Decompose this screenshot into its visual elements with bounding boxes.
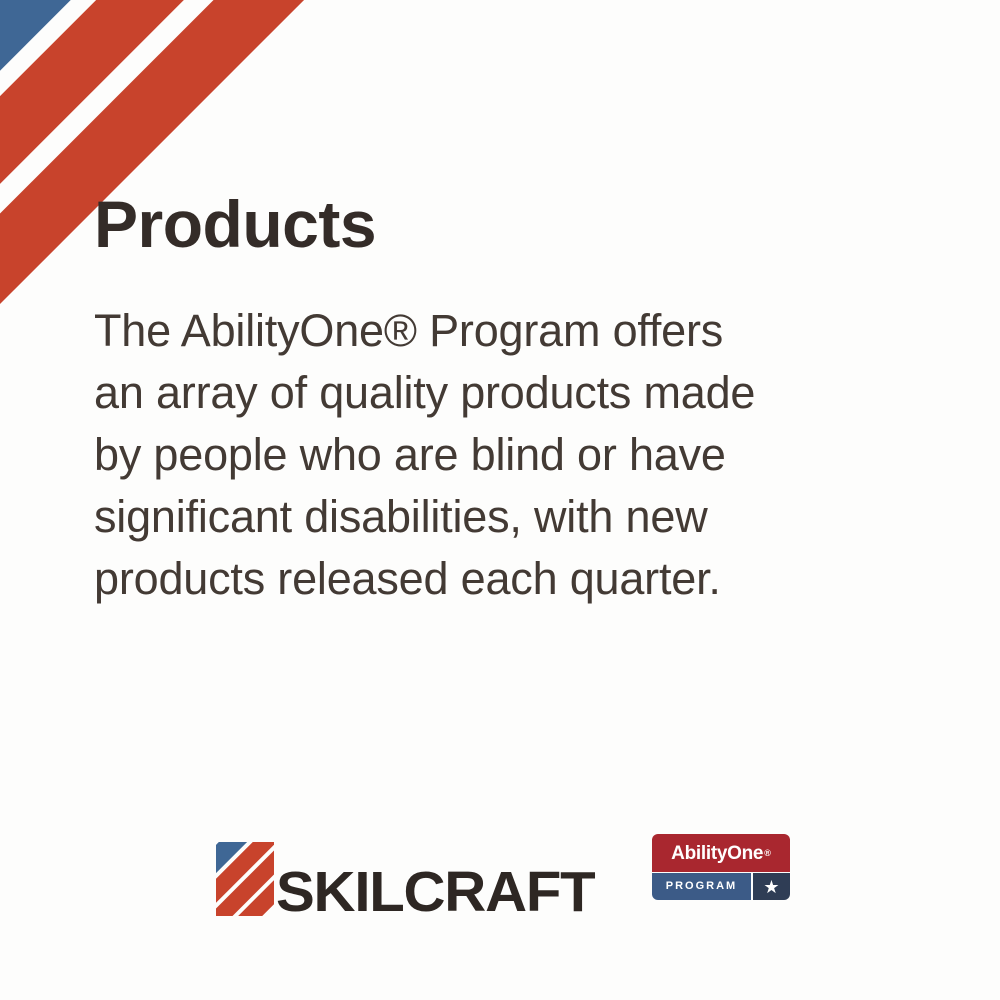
body-copy: The AbilityOne® Program offers an array … bbox=[94, 300, 864, 610]
logo-row: SKILCRAFT AbilityOne ® PROGRAM ★ bbox=[0, 818, 1000, 918]
registered-trademark-icon: ® bbox=[764, 848, 771, 858]
body-line-1: The AbilityOne® Program offers bbox=[94, 300, 864, 362]
flag-stripes-corner bbox=[0, 0, 320, 320]
abilityone-star-block: ★ bbox=[753, 873, 790, 900]
abilityone-logo: AbilityOne ® PROGRAM ★ bbox=[652, 834, 790, 900]
body-line-3: by people who are blind or have bbox=[94, 424, 864, 486]
star-icon: ★ bbox=[763, 878, 779, 896]
products-info-card: Products The AbilityOne® Program offers … bbox=[0, 0, 1000, 1000]
abilityone-logo-name: AbilityOne bbox=[671, 844, 763, 863]
abilityone-program-label: PROGRAM bbox=[666, 881, 737, 892]
skilcraft-flag-mark-icon bbox=[216, 842, 274, 916]
corner-stripe-red-1 bbox=[0, 0, 311, 311]
abilityone-program-block: PROGRAM bbox=[652, 873, 751, 900]
body-line-2: an array of quality products made bbox=[94, 362, 864, 424]
skilcraft-wordmark: SKILCRAFT bbox=[276, 868, 594, 916]
body-line-5: products released each quarter. bbox=[94, 548, 864, 610]
abilityone-logo-top-block: AbilityOne ® bbox=[652, 834, 790, 872]
corner-stripe-red-2 bbox=[0, 0, 320, 320]
body-line-4: significant disabilities, with new bbox=[94, 486, 864, 548]
abilityone-logo-bottom-block: PROGRAM ★ bbox=[652, 873, 790, 900]
skilcraft-logo: SKILCRAFT bbox=[216, 826, 588, 916]
page-title: Products bbox=[94, 191, 376, 257]
